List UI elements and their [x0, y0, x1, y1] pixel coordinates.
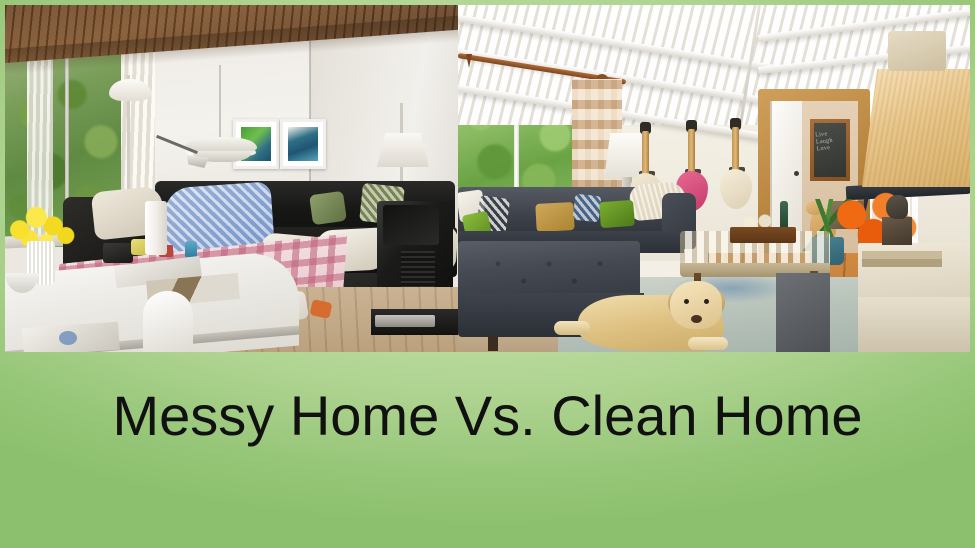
sofa-leg: [488, 335, 498, 351]
blue-pillow: [573, 194, 602, 223]
lamp-icon: [377, 133, 429, 167]
side-console-front: [858, 297, 970, 352]
white-chair: [143, 291, 193, 352]
dog-paw: [688, 337, 728, 350]
guitar-icon: [720, 127, 754, 215]
dog-paw: [554, 321, 590, 335]
door-knob[interactable]: [794, 171, 799, 176]
green-pillow: [309, 191, 347, 225]
messy-home-photo[interactable]: Messy living room with cluttered sofa, p…: [5, 5, 458, 352]
chalkboard-text: Live Laugh Love: [815, 129, 847, 153]
lamp-top-shade: [888, 31, 946, 71]
framed-art-right: [280, 119, 326, 169]
dog-eye: [684, 299, 689, 304]
green-pillow: [599, 200, 635, 228]
photo-band: Messy living room with cluttered sofa, p…: [5, 5, 970, 352]
wooden-tray: [730, 227, 796, 243]
chaise-tufting: [474, 253, 624, 289]
pet-steps: [776, 273, 830, 352]
television-screen: [383, 205, 439, 245]
bottle: [780, 201, 788, 229]
page-title: Messy Home Vs. Clean Home: [112, 388, 862, 444]
dog-nose: [691, 315, 702, 323]
title-area: Messy Home Vs. Clean Home: [0, 368, 975, 464]
bird-sculpture-icon: [886, 195, 908, 219]
dog-eye: [704, 299, 709, 304]
table-clutter-bottle: [185, 241, 197, 257]
table-clutter-box: [103, 243, 133, 263]
slide: Messy living room with cluttered sofa, p…: [0, 0, 975, 548]
clean-home-photo[interactable]: Live Laugh Love: [458, 5, 970, 352]
paper-towel-roll: [145, 201, 167, 255]
gold-pillow: [535, 202, 574, 232]
lamp-icon: [862, 69, 970, 187]
stacked-books: [862, 251, 942, 267]
floor-lamp-shade-left: [109, 79, 151, 101]
newspaper-graphic: [59, 331, 77, 345]
sculpture-base: [882, 217, 912, 245]
dvd-player: [375, 315, 435, 327]
pendant-cord: [219, 65, 221, 139]
